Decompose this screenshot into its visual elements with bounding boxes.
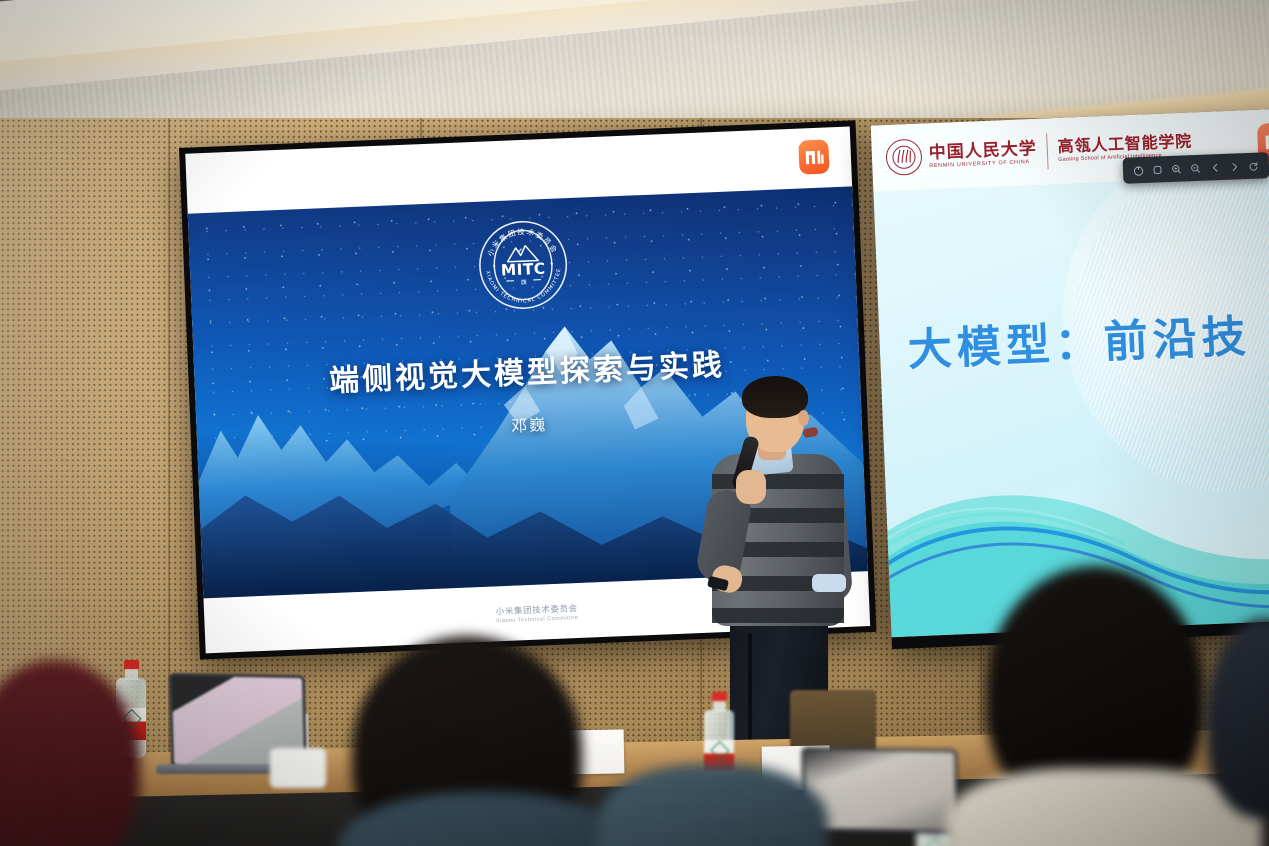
- right-screen-bezel: 中国人民大学 RENMIN UNIVERSITY OF CHINA 高瓴人工智能…: [871, 108, 1269, 649]
- header-divider: [1046, 133, 1048, 169]
- svg-text:MITC: MITC: [500, 260, 545, 280]
- ruc-seal-icon: [885, 139, 922, 176]
- prev-arrow-icon[interactable]: [1208, 161, 1221, 174]
- xiaomi-mi-logo-icon: [798, 139, 829, 174]
- right-slide[interactable]: 中国人民大学 RENMIN UNIVERSITY OF CHINA 高瓴人工智能…: [871, 108, 1269, 637]
- projector-control-toolbar[interactable]: [1123, 152, 1269, 184]
- zoom-out-icon[interactable]: [1189, 161, 1202, 174]
- presenter-ear: [798, 410, 809, 426]
- svg-text:旗: 旗: [520, 278, 526, 286]
- sweater-stripe: [712, 608, 844, 623]
- tissue-box: [270, 748, 326, 788]
- rotate-icon[interactable]: [1247, 159, 1260, 172]
- ruc-name-block: 中国人民大学 RENMIN UNIVERSITY OF CHINA: [928, 139, 1037, 169]
- renmin-university-brand: 中国人民大学 RENMIN UNIVERSITY OF CHINA: [885, 134, 1037, 176]
- power-icon[interactable]: [1132, 163, 1145, 176]
- next-arrow-icon[interactable]: [1227, 160, 1240, 173]
- presenter-hand-holding-mic: [736, 470, 766, 504]
- conference-photo-scene: 小米集团技术委员会 XIAOMI TECHNICAL COMMITTEE MIT…: [0, 0, 1269, 846]
- presenter-hair: [742, 376, 808, 418]
- presenter-shirt-cuff: [812, 574, 846, 592]
- zoom-in-icon[interactable]: [1170, 162, 1183, 175]
- stop-square-icon[interactable]: [1151, 163, 1164, 176]
- presenter-mouth: [802, 427, 818, 438]
